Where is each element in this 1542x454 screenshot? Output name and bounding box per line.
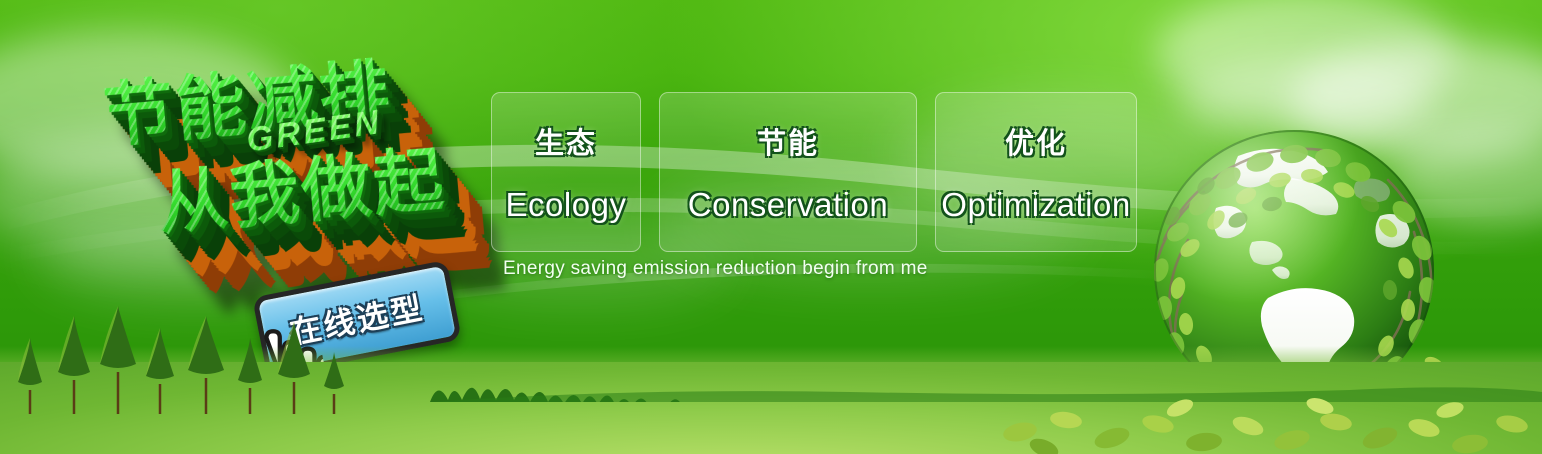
feature-card-title-cn: 优化 — [1005, 120, 1067, 162]
feature-card-list: 生态 Ecology 节能 Conservation 优化 Optimizati… — [491, 92, 1137, 252]
banner-tagline: Energy saving emission reduction begin f… — [503, 258, 928, 280]
eco-promo-banner: 节能减排 GREEN 从我做起 在线选型 生态 Ecology 节能 Conse… — [0, 0, 1542, 454]
headline-3d: 节能减排 GREEN 从我做起 — [87, 21, 506, 285]
cloud-icon — [1155, 0, 1455, 120]
feature-card-title-en: Optimization — [941, 186, 1130, 224]
feature-card-optimization[interactable]: 优化 Optimization — [935, 92, 1137, 252]
feature-card-title-cn: 节能 — [757, 120, 819, 162]
feature-card-title-en: Conservation — [688, 186, 888, 224]
feature-card-ecology[interactable]: 生态 Ecology — [491, 92, 641, 252]
feature-card-title-cn: 生态 — [535, 120, 597, 162]
feature-card-title-en: Ecology — [506, 186, 627, 224]
grass-field — [0, 362, 1542, 454]
feature-card-conservation[interactable]: 节能 Conservation — [659, 92, 917, 252]
